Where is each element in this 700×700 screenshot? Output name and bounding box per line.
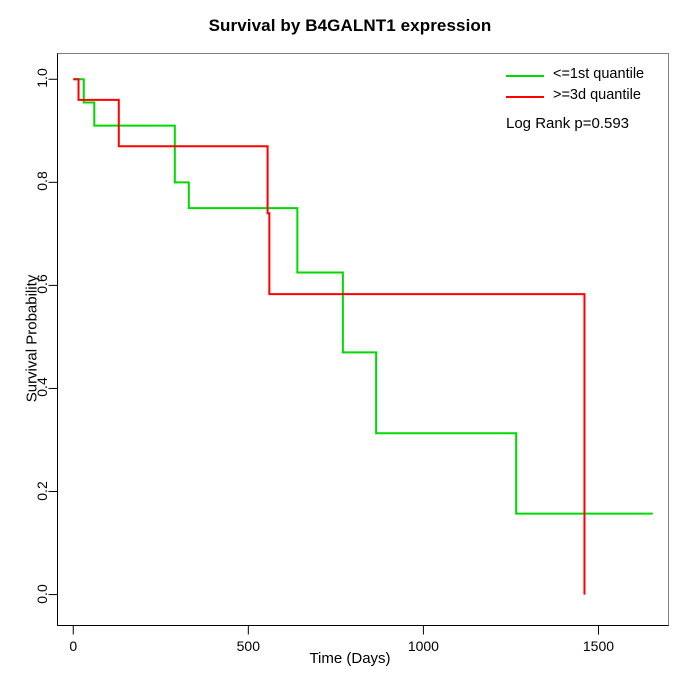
legend-label-third-quantile: >=3d quantile — [553, 87, 641, 103]
y-axis-label: Survival Probability — [24, 189, 41, 489]
legend-label-first-quantile: <=1st quantile — [553, 66, 644, 82]
legend-item-first-quantile: <=1st quantile — [506, 66, 666, 87]
x-axis-ticks — [73, 626, 598, 635]
legend-item-third-quantile: >=3d quantile — [506, 87, 666, 108]
survival-curve-first-quantile — [73, 79, 652, 513]
legend-swatch-green — [506, 75, 544, 77]
legend-swatch-red — [506, 96, 544, 98]
y-tick-label: 1.0 — [34, 60, 50, 96]
log-rank-pvalue-annotation: Log Rank p=0.593 — [506, 115, 629, 132]
x-axis-label: Time (Days) — [0, 650, 700, 667]
survival-curve-third-quantile — [73, 79, 584, 594]
y-tick-label: 0.0 — [34, 576, 50, 612]
legend: <=1st quantile >=3d quantile Log Rank p=… — [506, 66, 666, 108]
y-axis-ticks — [49, 79, 58, 594]
survival-curves — [73, 79, 652, 594]
survival-plot-figure: Survival by B4GALNT1 expression 05001000… — [0, 0, 700, 700]
plot-border — [58, 54, 669, 626]
